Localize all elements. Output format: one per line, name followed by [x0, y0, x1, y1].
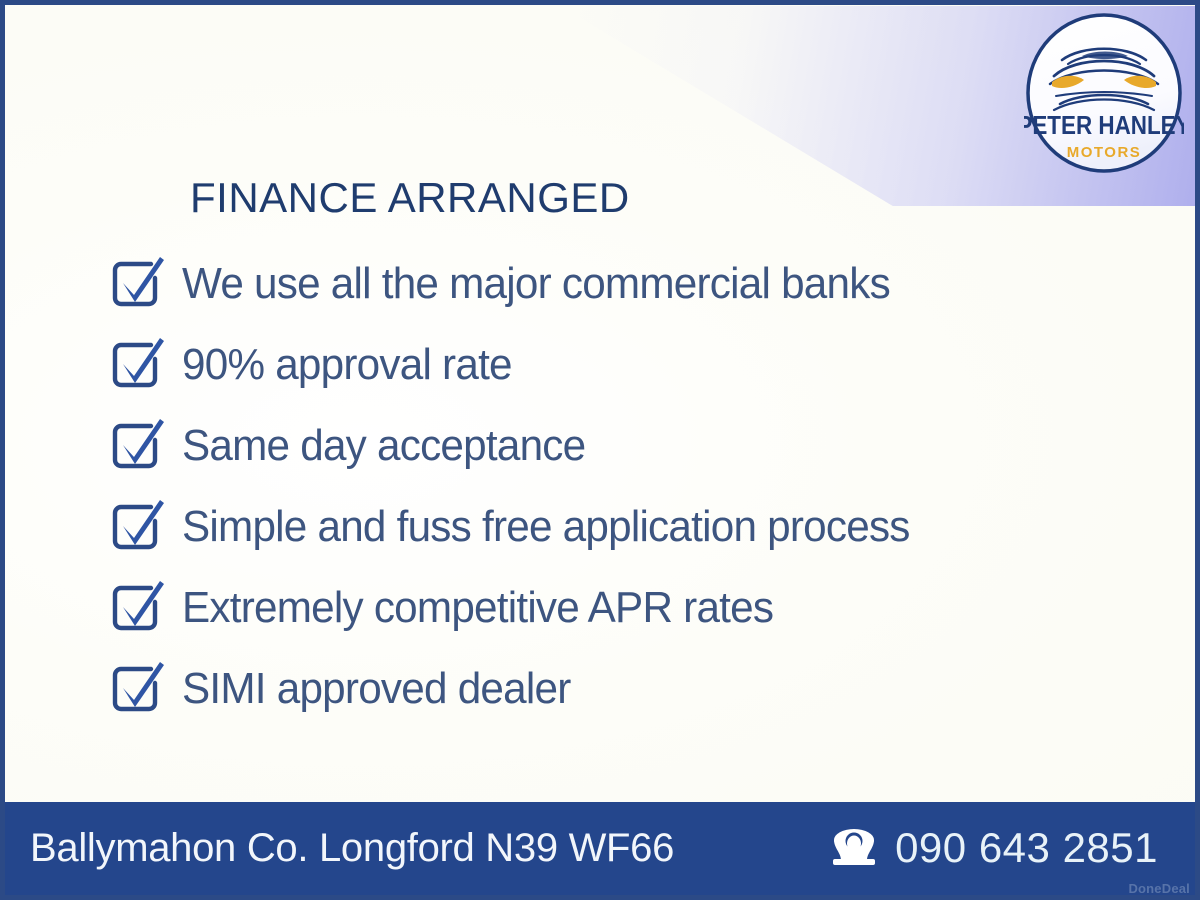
benefits-list: We use all the major commercial banks 90…: [104, 243, 1104, 729]
checked-checkbox-icon: [104, 252, 168, 316]
checked-checkbox-icon: [104, 414, 168, 478]
list-item-label: We use all the major commercial banks: [182, 262, 890, 306]
list-item-label: Same day acceptance: [182, 424, 585, 468]
list-item: Extremely competitive APR rates: [104, 567, 1104, 648]
list-item: We use all the major commercial banks: [104, 243, 1104, 324]
checked-checkbox-icon: [104, 495, 168, 559]
footer-bar: Ballymahon Co. Longford N39 WF66 090 643…: [0, 802, 1200, 900]
list-item: SIMI approved dealer: [104, 648, 1104, 729]
list-item: 90% approval rate: [104, 324, 1104, 405]
telephone-icon: [831, 827, 877, 869]
footer-phone-group[interactable]: 090 643 2851: [831, 824, 1158, 872]
finance-arranged-poster: PETER HANLEY MOTORS FINANCE ARRANGED We …: [0, 0, 1200, 900]
logo-brand-name: PETER HANLEY: [1024, 112, 1184, 141]
checked-checkbox-icon: [104, 333, 168, 397]
list-item-label: Simple and fuss free application process: [182, 505, 910, 549]
donedeal-watermark: DoneDeal: [1128, 881, 1190, 896]
list-item-label: Extremely competitive APR rates: [182, 586, 773, 630]
checked-checkbox-icon: [104, 576, 168, 640]
footer-phone-number[interactable]: 090 643 2851: [895, 824, 1158, 872]
list-item: Same day acceptance: [104, 405, 1104, 486]
peter-hanley-motors-logo: PETER HANLEY MOTORS: [1024, 12, 1184, 174]
logo-brand-subtitle: MOTORS: [1067, 144, 1142, 161]
list-item: Simple and fuss free application process: [104, 486, 1104, 567]
page-title: FINANCE ARRANGED: [190, 174, 630, 222]
footer-address: Ballymahon Co. Longford N39 WF66: [30, 826, 674, 871]
list-item-label: 90% approval rate: [182, 343, 512, 387]
checked-checkbox-icon: [104, 657, 168, 721]
list-item-label: SIMI approved dealer: [182, 667, 571, 711]
